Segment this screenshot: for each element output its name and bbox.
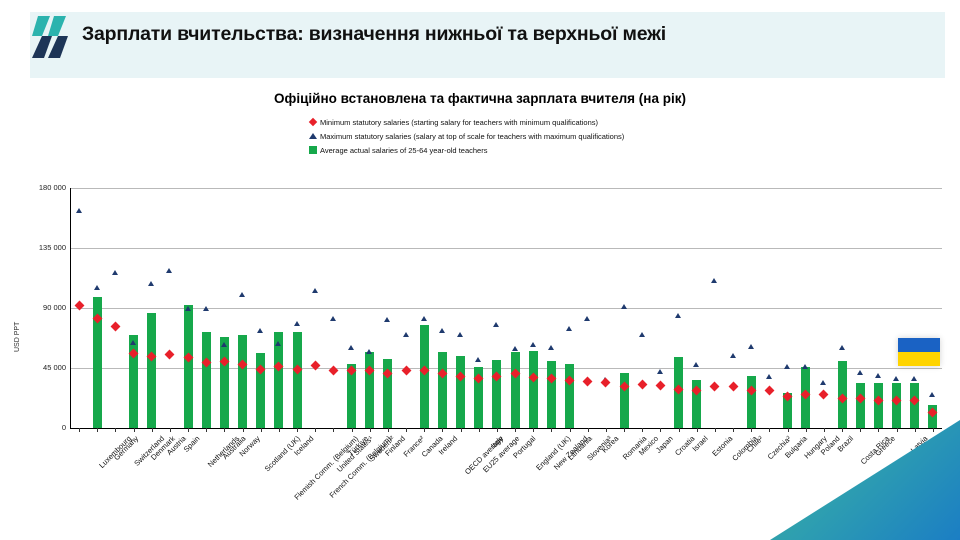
marker-minimum-salary (110, 322, 120, 332)
marker-maximum-salary (403, 332, 409, 337)
marker-maximum-salary (421, 316, 427, 321)
x-tick (769, 428, 770, 432)
bar-average-actual (274, 332, 283, 428)
marker-maximum-salary (112, 270, 118, 275)
marker-maximum-salary (875, 373, 881, 378)
ukraine-flag-icon (898, 338, 940, 366)
x-tick (733, 428, 734, 432)
x-tick (824, 428, 825, 432)
x-tick (370, 428, 371, 432)
x-tick (897, 428, 898, 432)
bar-average-actual (565, 364, 574, 428)
x-tick (479, 428, 480, 432)
x-tick (206, 428, 207, 432)
x-tick (660, 428, 661, 432)
flag-stripe-yellow (898, 352, 940, 366)
marker-maximum-salary (657, 369, 663, 374)
marker-maximum-salary (929, 392, 935, 397)
marker-maximum-salary (530, 342, 536, 347)
marker-maximum-salary (294, 321, 300, 326)
marker-maximum-salary (748, 344, 754, 349)
x-tick (352, 428, 353, 432)
marker-maximum-salary (693, 362, 699, 367)
marker-maximum-salary (148, 281, 154, 286)
marker-maximum-salary (94, 285, 100, 290)
x-tick (424, 428, 425, 432)
marker-maximum-salary (820, 380, 826, 385)
marker-maximum-salary (203, 306, 209, 311)
gridline (70, 308, 942, 309)
x-tick (642, 428, 643, 432)
marker-maximum-salary (275, 341, 281, 346)
x-tick (606, 428, 607, 432)
bar-average-actual (747, 376, 756, 428)
bar-average-actual (856, 383, 865, 428)
marker-maximum-salary (730, 353, 736, 358)
bar-average-actual (910, 383, 919, 428)
marker-minimum-salary (601, 378, 611, 388)
marker-maximum-salary (711, 278, 717, 283)
x-tick (860, 428, 861, 432)
x-tick (279, 428, 280, 432)
marker-maximum-salary (802, 364, 808, 369)
x-axis-label: Greece (873, 434, 897, 458)
marker-minimum-salary (583, 376, 593, 386)
x-tick (497, 428, 498, 432)
x-tick (715, 428, 716, 432)
x-tick (533, 428, 534, 432)
marker-maximum-salary (166, 268, 172, 273)
x-tick (134, 428, 135, 432)
y-tick-label: 90 000 (12, 303, 66, 312)
bar-average-actual (147, 313, 156, 428)
marker-maximum-salary (857, 370, 863, 375)
x-tick (406, 428, 407, 432)
y-tick-label: 135 000 (12, 243, 66, 252)
x-tick (442, 428, 443, 432)
x-tick (388, 428, 389, 432)
bar-average-actual (202, 332, 211, 428)
gridline (70, 188, 942, 189)
bar-average-actual (420, 325, 429, 428)
marker-maximum-salary (312, 288, 318, 293)
marker-minimum-salary (819, 390, 829, 400)
chart-plot-area: USD PPT 045 00090 000135 000180 000 Luxe… (0, 0, 960, 540)
x-tick (842, 428, 843, 432)
marker-maximum-salary (76, 208, 82, 213)
y-axis-ticks: 045 00090 000135 000180 000 (8, 0, 66, 540)
y-tick-label: 0 (12, 423, 66, 432)
x-tick (97, 428, 98, 432)
bar-average-actual (547, 361, 556, 428)
x-tick (515, 428, 516, 432)
x-tick (315, 428, 316, 432)
y-tick-label: 180 000 (12, 183, 66, 192)
x-tick (115, 428, 116, 432)
x-tick (570, 428, 571, 432)
x-tick (679, 428, 680, 432)
marker-maximum-salary (493, 322, 499, 327)
marker-maximum-salary (784, 364, 790, 369)
marker-maximum-salary (457, 332, 463, 337)
marker-minimum-salary (637, 379, 647, 389)
marker-maximum-salary (221, 342, 227, 347)
marker-maximum-salary (475, 357, 481, 362)
x-tick (878, 428, 879, 432)
x-tick (333, 428, 334, 432)
x-tick (224, 428, 225, 432)
x-tick (915, 428, 916, 432)
marker-maximum-salary (239, 292, 245, 297)
bar-average-actual (438, 352, 447, 428)
x-tick (152, 428, 153, 432)
marker-minimum-salary (764, 386, 774, 396)
marker-maximum-salary (366, 349, 372, 354)
x-tick (624, 428, 625, 432)
marker-maximum-salary (584, 316, 590, 321)
marker-minimum-salary (710, 382, 720, 392)
marker-maximum-salary (348, 345, 354, 350)
x-tick (170, 428, 171, 432)
marker-maximum-salary (384, 317, 390, 322)
bar-average-actual (529, 351, 538, 428)
y-axis-line (70, 188, 71, 429)
x-tick (297, 428, 298, 432)
bar-average-actual (220, 337, 229, 428)
marker-maximum-salary (185, 306, 191, 311)
marker-maximum-salary (911, 376, 917, 381)
marker-maximum-salary (893, 376, 899, 381)
marker-maximum-salary (839, 345, 845, 350)
bar-average-actual (365, 352, 374, 428)
bar-average-actual (492, 360, 501, 428)
marker-minimum-salary (655, 380, 665, 390)
x-tick (751, 428, 752, 432)
bar-average-actual (238, 335, 247, 428)
marker-maximum-salary (566, 326, 572, 331)
marker-maximum-salary (439, 328, 445, 333)
x-tick (461, 428, 462, 432)
marker-maximum-salary (639, 332, 645, 337)
bar-average-actual (293, 332, 302, 428)
x-tick (933, 428, 934, 432)
x-tick (551, 428, 552, 432)
x-tick (697, 428, 698, 432)
bar-average-actual (456, 356, 465, 428)
bar-average-actual (184, 305, 193, 428)
marker-maximum-salary (766, 374, 772, 379)
x-tick (188, 428, 189, 432)
gridline (70, 248, 942, 249)
marker-maximum-salary (621, 304, 627, 309)
x-tick (806, 428, 807, 432)
marker-maximum-salary (130, 340, 136, 345)
x-tick (243, 428, 244, 432)
x-tick (588, 428, 589, 432)
marker-maximum-salary (257, 328, 263, 333)
marker-minimum-salary (165, 350, 175, 360)
x-tick (788, 428, 789, 432)
marker-maximum-salary (675, 313, 681, 318)
flag-stripe-blue (898, 338, 940, 352)
marker-maximum-salary (330, 316, 336, 321)
x-axis-line (70, 428, 942, 429)
marker-maximum-salary (548, 345, 554, 350)
x-tick (79, 428, 80, 432)
y-tick-label: 45 000 (12, 363, 66, 372)
x-tick (261, 428, 262, 432)
marker-maximum-salary (512, 346, 518, 351)
marker-minimum-salary (728, 382, 738, 392)
bar-average-actual (511, 352, 520, 428)
